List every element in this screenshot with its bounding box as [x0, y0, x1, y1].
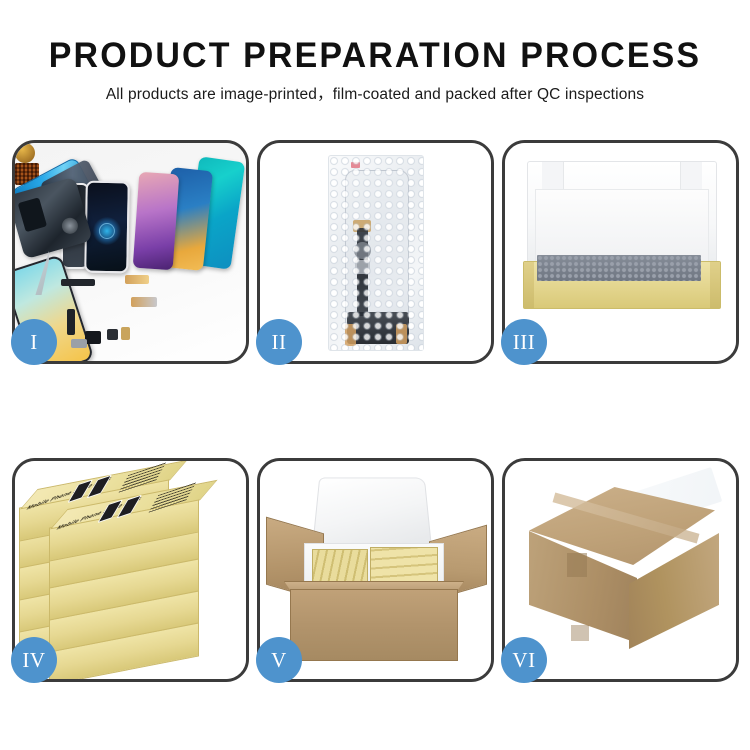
process-step-1: I — [12, 140, 249, 364]
product-preparation-infographic: PRODUCT PREPARATION PROCESS All products… — [0, 0, 750, 750]
step-badge-3: III — [501, 319, 547, 365]
box-spec-lines — [118, 462, 166, 492]
sim-tray-part — [71, 339, 87, 348]
speaker-module-part — [85, 331, 101, 344]
small-component-1 — [107, 329, 118, 340]
earpiece-mesh-part — [61, 279, 95, 286]
step-badge-6: VI — [501, 637, 547, 683]
step-badge-1: I — [11, 319, 57, 365]
qc-sticker — [351, 162, 360, 168]
carton-hand-slot-bottom — [571, 625, 589, 641]
step-badge-2: II — [256, 319, 302, 365]
process-step-grid: I II — [12, 140, 738, 682]
box-stack: Mobile Phone Spare Parts Mobile Phone Sp… — [19, 475, 244, 673]
grey-foam-padding — [537, 255, 701, 281]
styrofoam-lid — [312, 478, 431, 545]
flex-cable-part-3 — [67, 309, 75, 335]
phone-dark-display — [84, 181, 130, 274]
carton-hand-slot-top — [567, 553, 587, 577]
page-subtitle: All products are image-printed，film-coat… — [0, 85, 750, 105]
white-foam-sheet — [535, 189, 709, 265]
copper-tab-right — [396, 324, 407, 344]
camera-module — [354, 242, 371, 259]
bubble-wrap-bag — [328, 155, 424, 351]
process-step-2: II — [257, 140, 494, 364]
flex-cable-part-1 — [125, 275, 149, 284]
step-badge-5: V — [256, 637, 302, 683]
process-step-3: III — [502, 140, 739, 364]
step-badge-4: IV — [11, 637, 57, 683]
process-step-6: VI — [502, 458, 739, 682]
flex-cable-part-2 — [131, 297, 157, 307]
header: PRODUCT PREPARATION PROCESS All products… — [0, 0, 750, 105]
process-step-4: Mobile Phone Spare Parts Mobile Phone Sp… — [12, 458, 249, 682]
copper-tab-left — [345, 324, 356, 346]
carton-body — [290, 589, 458, 661]
process-step-5: V — [257, 458, 494, 682]
small-component-2 — [121, 327, 130, 340]
page-title: PRODUCT PREPARATION PROCESS — [11, 36, 739, 76]
driver-ic-chip — [355, 260, 370, 274]
wallpaper-swirl-icon — [93, 216, 121, 244]
phone-purple-gradient — [133, 172, 180, 271]
vibration-motor-part — [15, 143, 35, 163]
